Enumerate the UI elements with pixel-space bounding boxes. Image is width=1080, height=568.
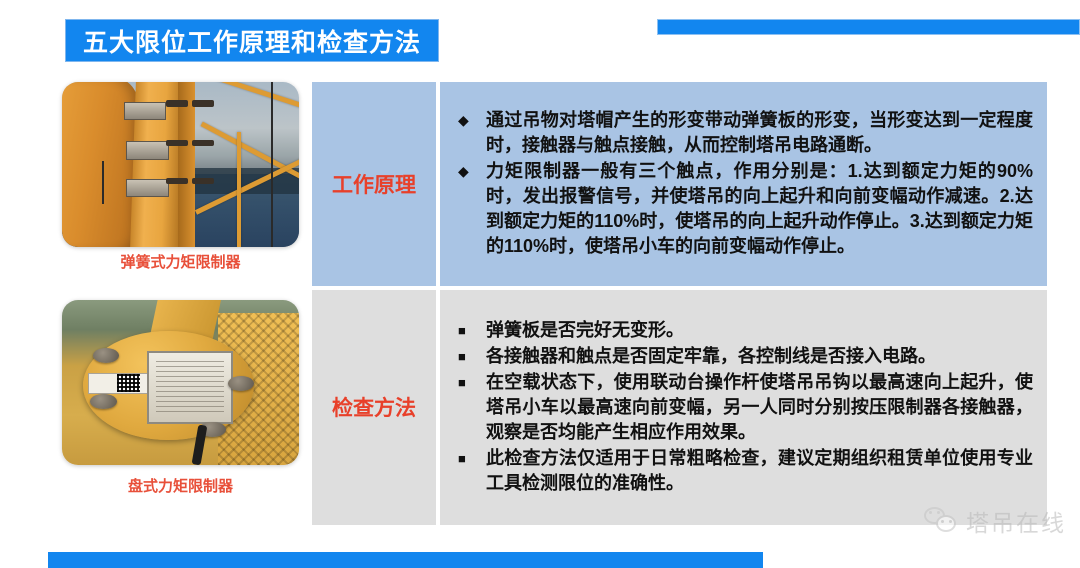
page-title-bar: 五大限位工作原理和检查方法	[65, 19, 439, 62]
row-label-working-principle: 工作原理	[312, 82, 440, 290]
content-table: 工作原理 通过吊物对塔帽产生的形变带动弹簧板的形变，当形变达到一定程度时，接触器…	[312, 82, 1047, 525]
row-label-inspection-method: 检查方法	[312, 290, 440, 525]
photo-caption-disc-type: 盘式力矩限制器	[62, 475, 299, 496]
watermark: 塔吊在线	[924, 504, 1066, 538]
table-row-working-principle: 工作原理 通过吊物对塔帽产生的形变带动弹簧板的形变，当形变达到一定程度时，接触器…	[312, 82, 1047, 290]
page-title: 五大限位工作原理和检查方法	[83, 23, 421, 59]
watermark-text: 塔吊在线	[966, 504, 1066, 538]
wechat-icon	[924, 507, 958, 535]
list-item: 力矩限制器一般有三个触点，作用分别是：1.达到额定力矩的90%时，发出报警信号，…	[452, 159, 1033, 259]
row-body-working-principle: 通过吊物对塔帽产生的形变带动弹簧板的形变，当形变达到一定程度时，接触器与触点接触…	[440, 82, 1047, 290]
photo-spring-type-torque-limiter	[62, 82, 299, 247]
top-right-accent-bar	[657, 19, 1080, 35]
slide-root: 五大限位工作原理和检查方法 弹簧式力矩限制器	[0, 0, 1080, 568]
list-item: 此检查方法仅适用于日常粗略检查，建议定期组织租赁单位使用专业工具检测限位的准确性…	[452, 446, 1033, 496]
bottom-left-accent-bar	[48, 552, 763, 568]
list-item: 在空载状态下，使用联动台操作杆使塔吊吊钩以最高速向上起升，使塔吊小车以最高速向前…	[452, 370, 1033, 445]
list-item: 通过吊物对塔帽产生的形变带动弹簧板的形变，当形变达到一定程度时，接触器与触点接触…	[452, 108, 1033, 158]
row-body-inspection-method: 弹簧板是否完好无变形。 各接触器和触点是否固定牢靠，各控制线是否接入电路。 在空…	[440, 290, 1047, 525]
photo-caption-spring-type: 弹簧式力矩限制器	[62, 251, 299, 272]
table-row-inspection-method: 检查方法 弹簧板是否完好无变形。 各接触器和触点是否固定牢靠，各控制线是否接入电…	[312, 290, 1047, 525]
list-item: 各接触器和触点是否固定牢靠，各控制线是否接入电路。	[452, 344, 1033, 369]
photo-disc-type-torque-limiter	[62, 300, 299, 465]
list-item: 弹簧板是否完好无变形。	[452, 318, 1033, 343]
bullet-list-inspection-method: 弹簧板是否完好无变形。 各接触器和触点是否固定牢靠，各控制线是否接入电路。 在空…	[452, 318, 1033, 496]
bullet-list-working-principle: 通过吊物对塔帽产生的形变带动弹簧板的形变，当形变达到一定程度时，接触器与触点接触…	[452, 108, 1033, 259]
